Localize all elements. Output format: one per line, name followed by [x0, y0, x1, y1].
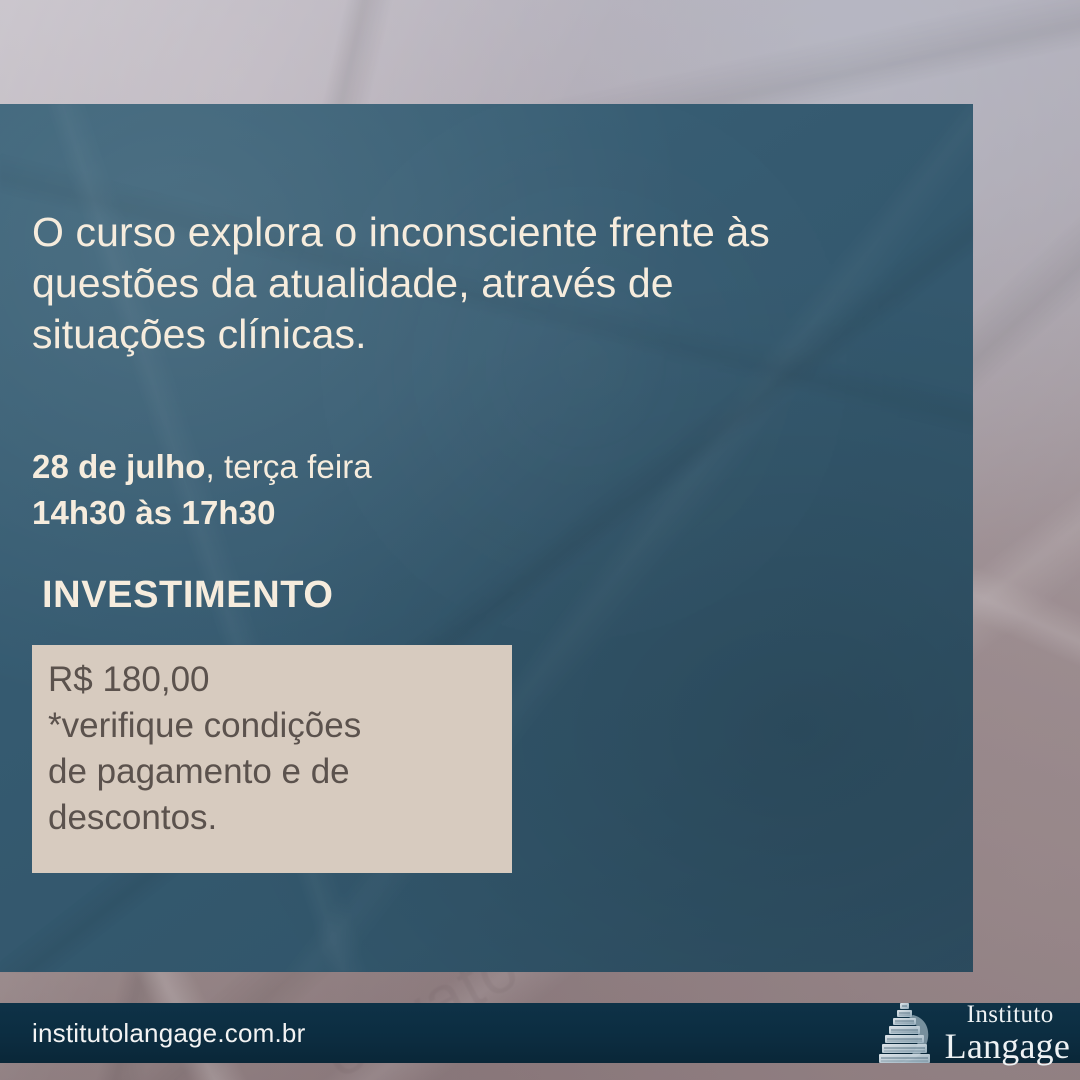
course-datetime: 28 de julho, terça feira 14h30 às 17h30: [32, 444, 372, 535]
website-url[interactable]: institutolangage.com.br: [32, 1018, 305, 1049]
brand-word-instituto: Instituto: [945, 1002, 1054, 1027]
course-description: O curso explora o inconsciente frente às…: [32, 207, 832, 359]
course-date-strong: 28 de julho: [32, 448, 205, 485]
poster: envato elements envato elements envato e…: [0, 0, 1080, 1080]
price-box: R$ 180,00 *verifique condições de pagame…: [32, 645, 512, 873]
price-details: R$ 180,00 *verifique condições de pagame…: [48, 657, 496, 840]
footer-bar: institutolangage.com.br: [0, 1003, 1080, 1063]
brand-word-langage: Langage: [945, 1028, 1070, 1064]
babel-tower-icon: [873, 997, 937, 1069]
course-weekday: , terça feira: [205, 448, 371, 485]
brand-logo[interactable]: Instituto Langage: [873, 997, 1070, 1069]
course-date-line: 28 de julho, terça feira: [32, 444, 372, 490]
course-time: 14h30 às 17h30: [32, 490, 372, 536]
investment-heading: INVESTIMENTO: [42, 574, 334, 617]
brand-wordmark: Instituto Langage: [945, 1002, 1070, 1064]
